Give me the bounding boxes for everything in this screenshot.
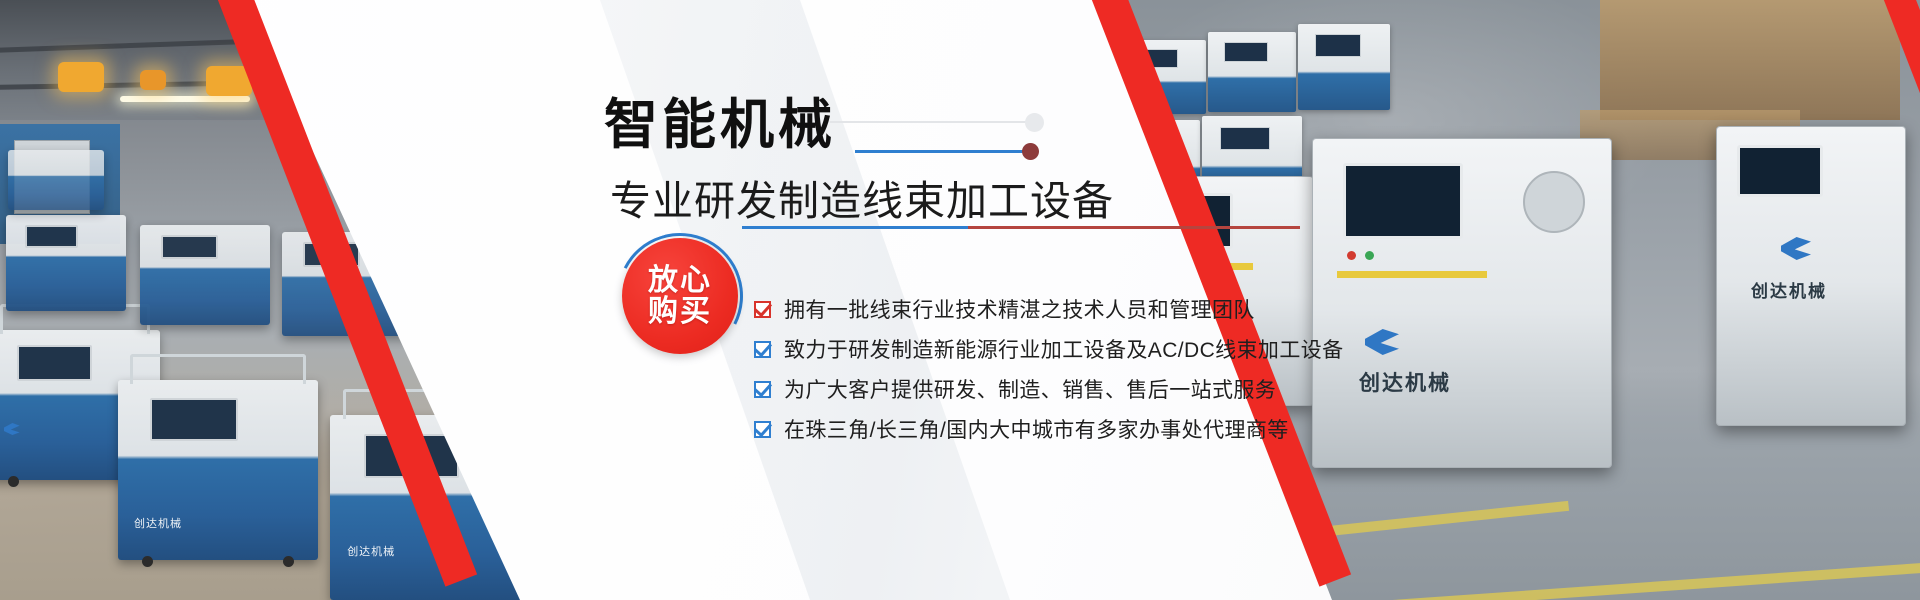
list-item: 为广大客户提供研发、制造、销售、售后一站式服务 [754,370,1344,408]
banner-title: 智能机械 [604,98,836,152]
divider-blue-segment [742,226,968,229]
decor-red-dot [1022,143,1039,160]
checkbox-icon [754,381,771,398]
checkbox-icon [754,421,771,438]
checkbox-icon [754,341,771,358]
list-item-label: 拥有一批线束行业技术精湛之技术人员和管理团队 [784,294,1255,324]
list-item-label: 为广大客户提供研发、制造、销售、售后一站式服务 [784,374,1276,404]
feature-list: 拥有一批线束行业技术精湛之技术人员和管理团队 致力于研发制造新能源行业加工设备及… [754,290,1344,450]
list-item-label: 在珠三角/长三角/国内大中城市有多家办事处代理商等 [784,414,1289,444]
checkbox-icon [754,301,771,318]
list-item: 拥有一批线束行业技术精湛之技术人员和管理团队 [754,290,1344,328]
decor-blue-line [855,150,1030,153]
promo-banner: 创达机械 创达机械 [0,0,1920,600]
decor-grey-dot [1025,113,1044,132]
list-item: 在珠三角/长三角/国内大中城市有多家办事处代理商等 [754,410,1344,448]
divider-red-segment [968,226,1300,229]
banner-content: 智能机械 专业研发制造线束加工设备 放心 购买 拥有一批线束行业技术精湛之技术人… [0,0,1920,600]
badge-line-2: 购买 [648,296,712,328]
decor-grey-line [830,121,1030,123]
banner-subtitle: 专业研发制造线束加工设备 [610,167,1114,227]
list-item: 致力于研发制造新能源行业加工设备及AC/DC线束加工设备 [754,330,1344,368]
trust-badge: 放心 购买 [622,238,738,354]
list-item-label: 致力于研发制造新能源行业加工设备及AC/DC线束加工设备 [784,334,1344,364]
badge-line-1: 放心 [648,265,712,297]
title-divider [742,226,1300,229]
